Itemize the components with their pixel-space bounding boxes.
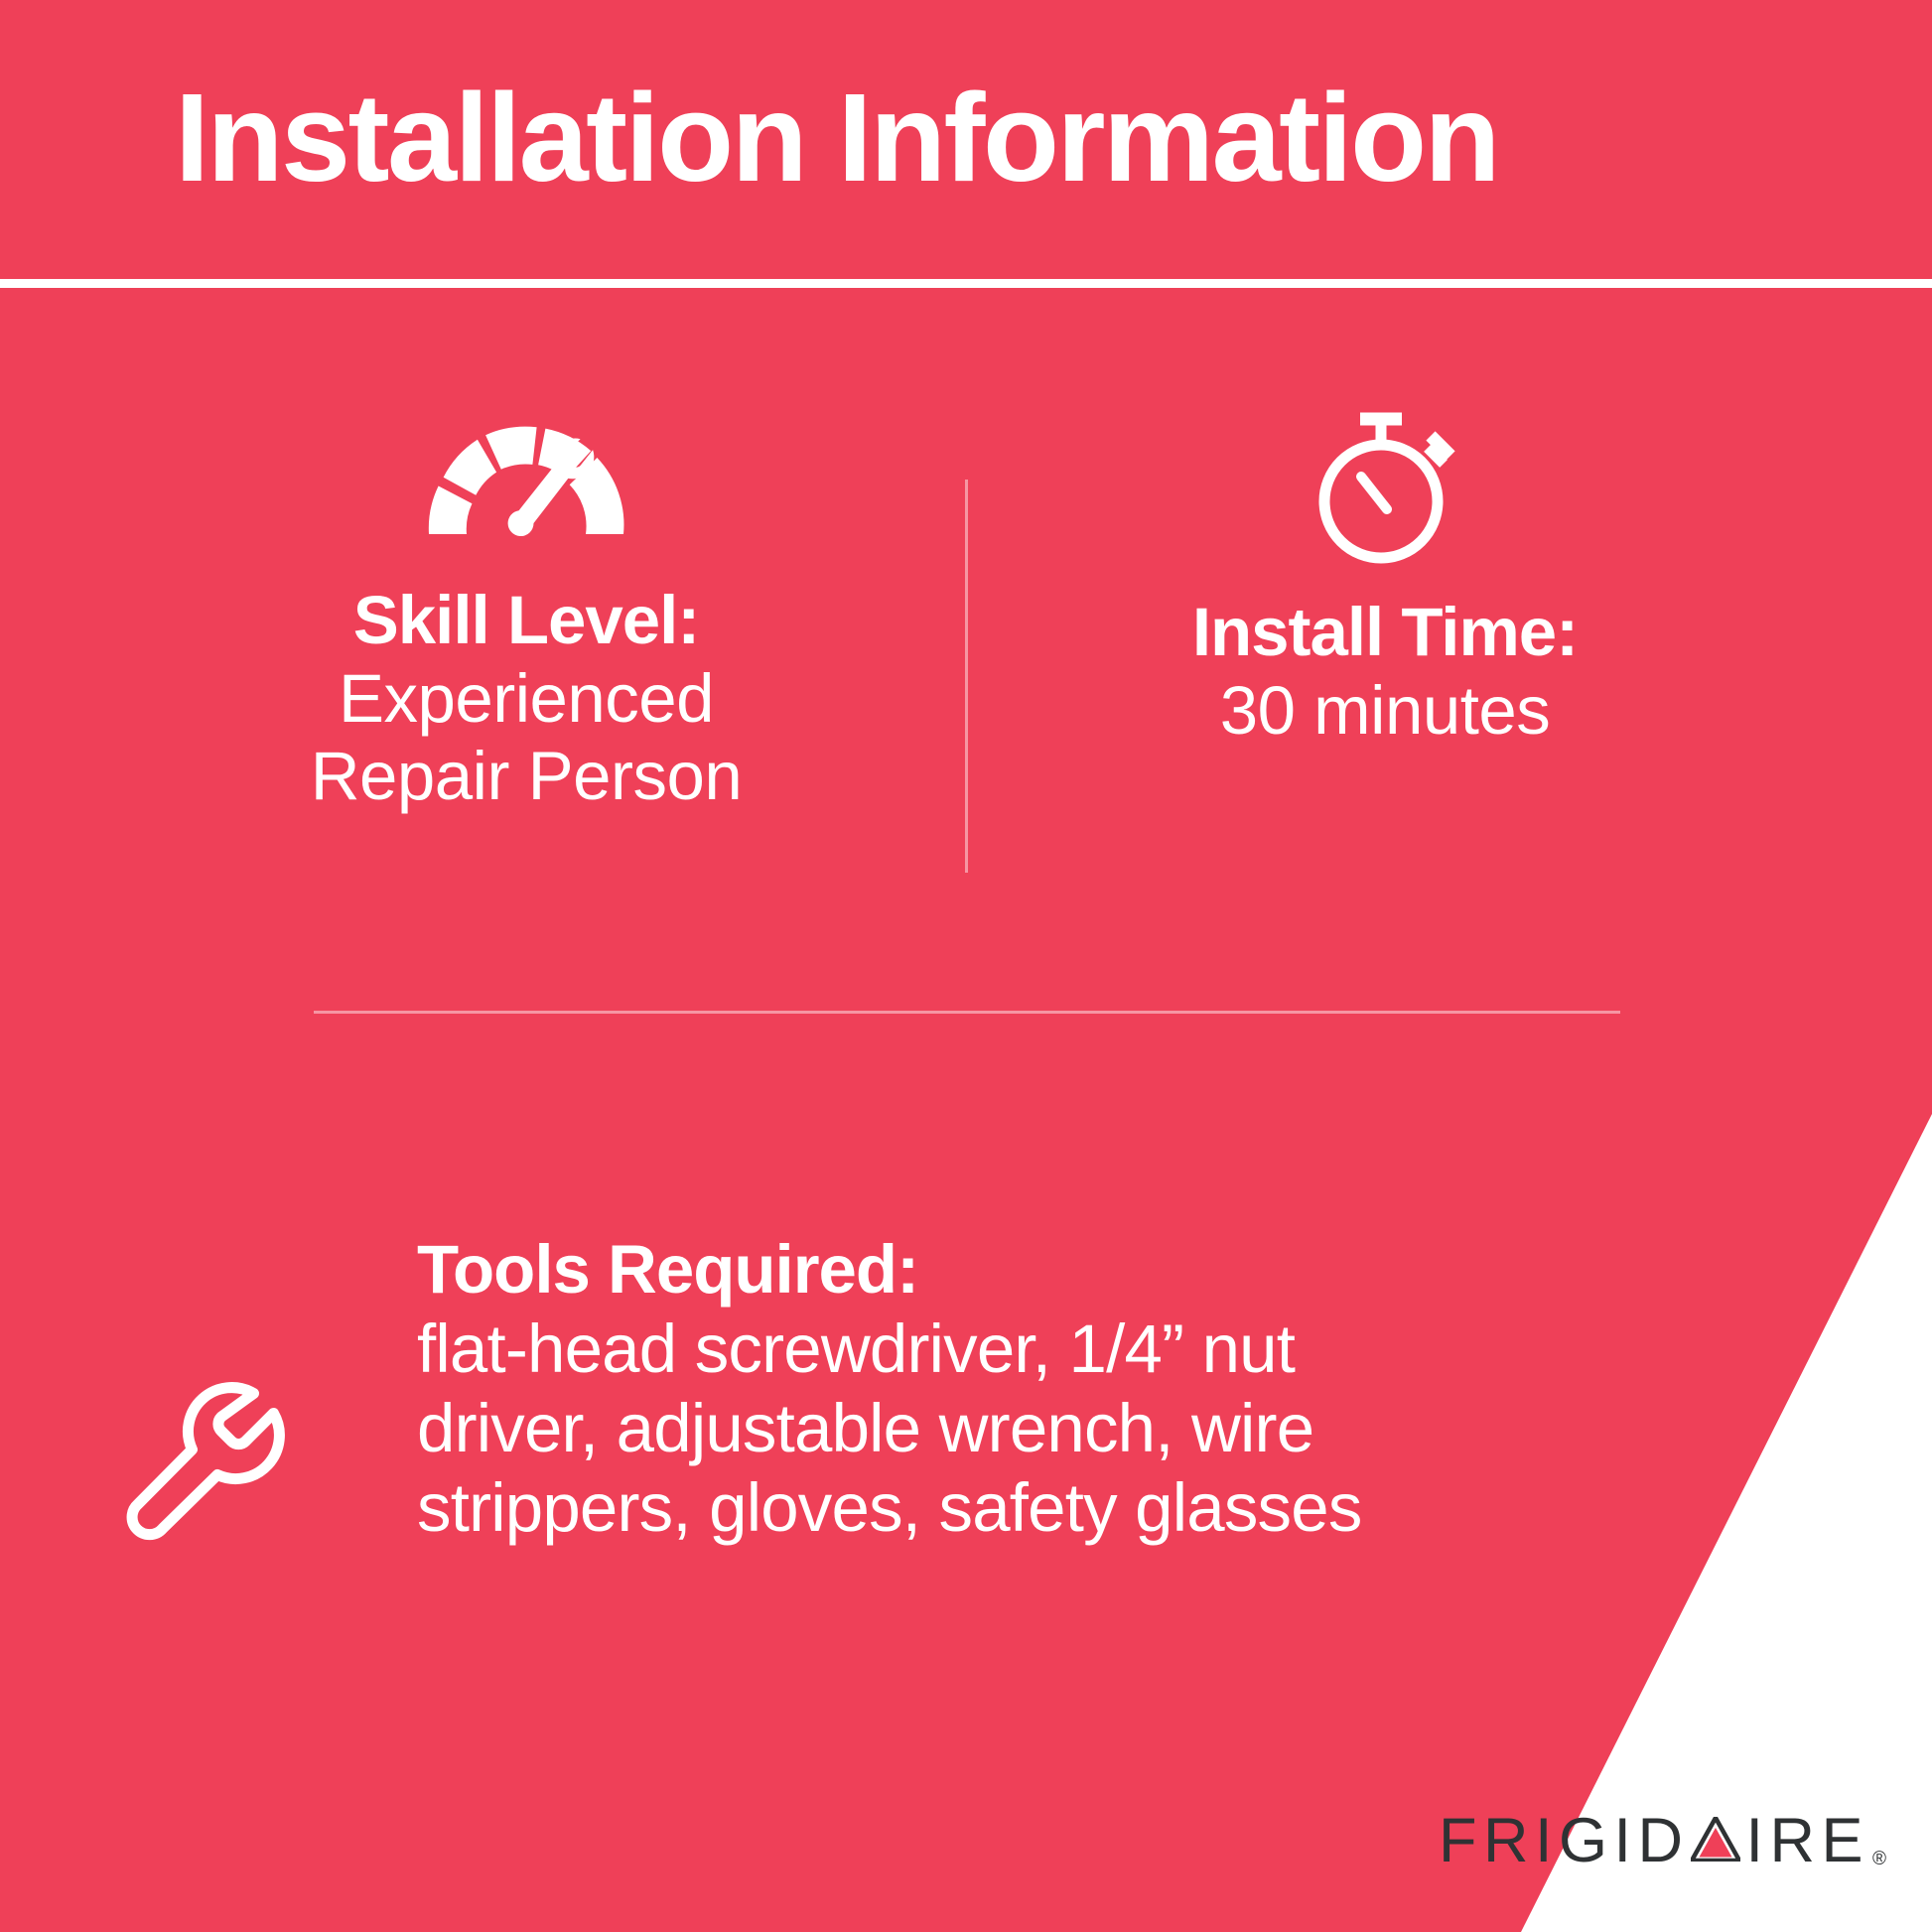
- brand-triangle-icon: [1691, 1810, 1740, 1872]
- install-time-heading: Install Time:: [993, 594, 1777, 672]
- corner-wedge-decoration: [0, 0, 1932, 1932]
- install-time-value: 30 minutes: [993, 672, 1777, 751]
- tools-required-section: Tools Required: flat-head screwdriver, 1…: [0, 1231, 1932, 1564]
- brand-text-before-triangle: FRIGID: [1439, 1810, 1690, 1872]
- tools-required-heading: Tools Required:: [417, 1231, 1509, 1310]
- registered-trademark-mark: ®: [1872, 1850, 1886, 1868]
- wrench-icon: [0, 1231, 417, 1564]
- brand-text-after-triangle: IRE: [1745, 1810, 1869, 1872]
- skill-level-block: Skill Level: Experienced Repair Person: [149, 407, 903, 816]
- tools-required-value: flat-head screwdriver, 1/4” nut driver, …: [417, 1310, 1469, 1549]
- skill-level-heading: Skill Level:: [149, 582, 903, 660]
- header-rule: [0, 279, 1932, 288]
- frigidaire-logo: FRIGID IRE ®: [1439, 1810, 1886, 1872]
- skill-level-value-line-2: Repair Person: [149, 738, 903, 816]
- page-title: Installation Information: [175, 75, 1498, 201]
- header-bar: Installation Information: [0, 0, 1932, 276]
- horizontal-divider: [314, 1011, 1620, 1014]
- installation-info-card: Installation Information: [0, 0, 1932, 1932]
- skill-level-value-line-1: Experienced: [149, 660, 903, 739]
- install-time-block: Install Time: 30 minutes: [993, 407, 1777, 750]
- brand-wordmark: FRIGID IRE: [1439, 1810, 1869, 1872]
- vertical-divider: [965, 480, 968, 873]
- gauge-wrench-icon: [149, 407, 903, 536]
- stopwatch-icon: [993, 407, 1777, 566]
- tools-text-wrap: Tools Required: flat-head screwdriver, 1…: [417, 1231, 1509, 1549]
